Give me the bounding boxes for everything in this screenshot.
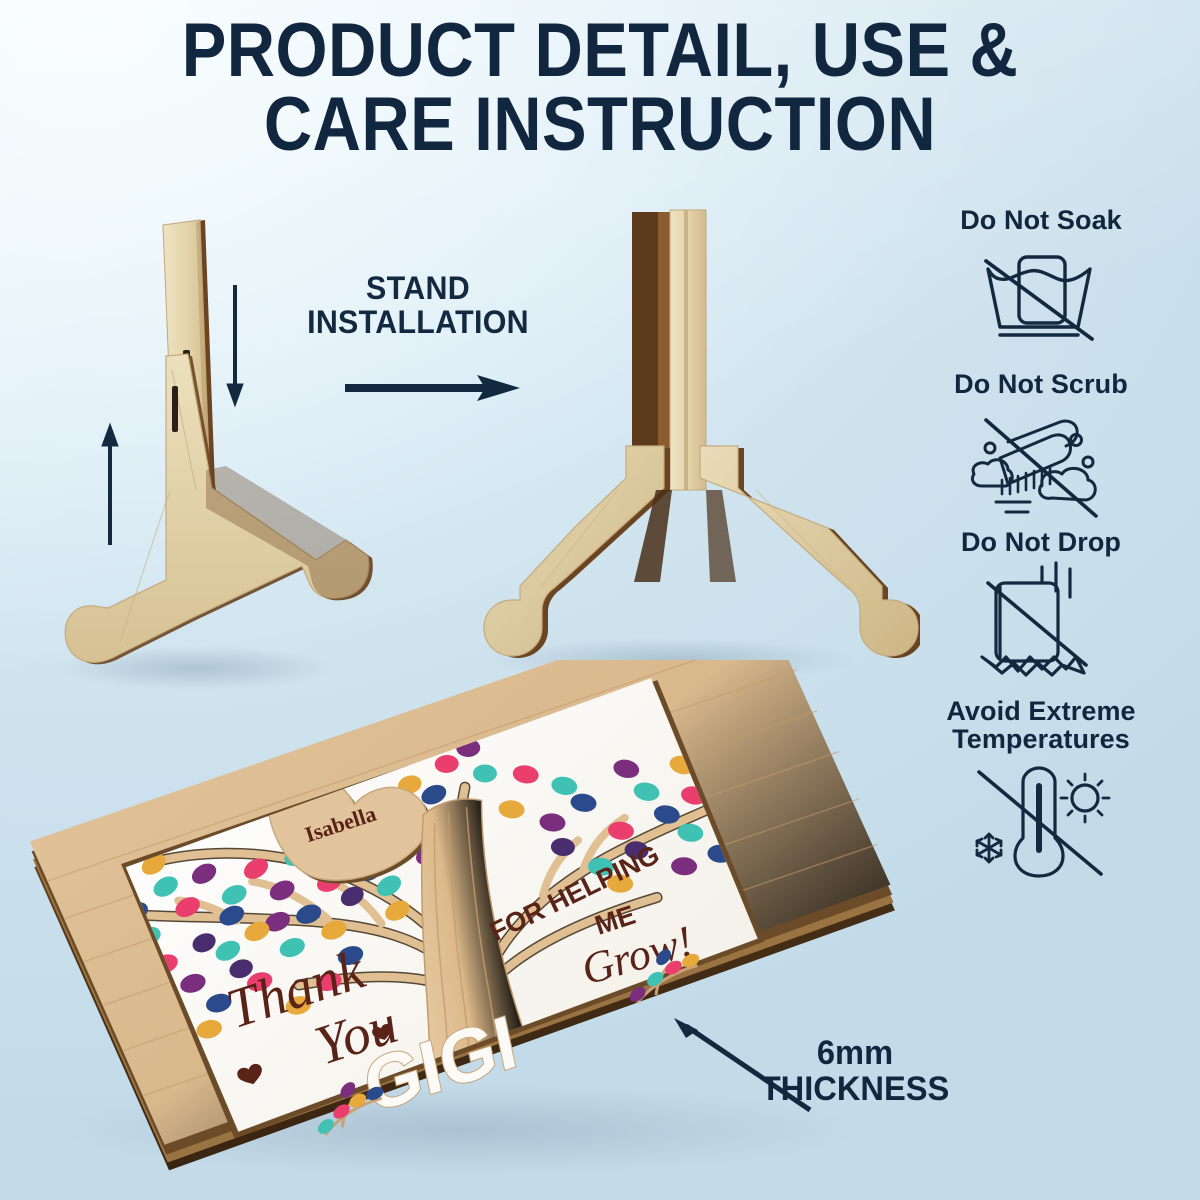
- stand-installation-label: STAND INSTALLATION: [268, 272, 568, 339]
- infographic-canvas: PRODUCT DETAIL, USE & CARE INSTRUCTION: [0, 0, 1200, 1200]
- page-title-line-1: PRODUCT DETAIL, USE &: [72, 16, 1128, 86]
- care-item-extreme-temperature: Avoid Extreme Temperatures: [892, 697, 1190, 878]
- care-label-no-drop: Do Not Drop: [892, 528, 1190, 557]
- no-scrub-icon: [956, 402, 1126, 522]
- care-item-no-soak: Do Not Soak: [892, 206, 1190, 364]
- care-label-no-soak: Do Not Soak: [892, 206, 1190, 235]
- no-drop-icon: [966, 561, 1116, 691]
- care-instructions-column: Do Not Soak Do Not Scrub: [892, 206, 1190, 884]
- stand-label-line-2: INSTALLATION: [276, 306, 561, 340]
- stand-label-line-1: STAND: [276, 272, 561, 306]
- page-title: PRODUCT DETAIL, USE & CARE INSTRUCTION: [0, 16, 1200, 160]
- care-label-extreme-temperature-line-2: Temperatures: [952, 724, 1130, 754]
- thickness-unit-label: THICKNESS: [745, 1071, 966, 1107]
- thickness-value: 6mm: [745, 1035, 966, 1071]
- no-soak-icon: [966, 239, 1116, 364]
- care-label-extreme-temperature: Avoid Extreme Temperatures: [892, 697, 1190, 754]
- no-extreme-temperature-icon: [961, 758, 1121, 878]
- care-item-no-scrub: Do Not Scrub: [892, 370, 1190, 523]
- thickness-callout: 6mm THICKNESS: [740, 1035, 970, 1107]
- arrow-up-head: [102, 424, 118, 446]
- care-label-extreme-temperature-line-1: Avoid Extreme: [946, 696, 1135, 726]
- page-title-line-2: CARE INSTRUCTION: [72, 90, 1128, 160]
- stand-installation-illustration: [20, 190, 920, 710]
- arrow-right-icon: [345, 375, 520, 401]
- arrow-down-head: [227, 384, 243, 406]
- care-label-no-scrub: Do Not Scrub: [892, 370, 1190, 399]
- care-item-no-drop: Do Not Drop: [892, 528, 1190, 691]
